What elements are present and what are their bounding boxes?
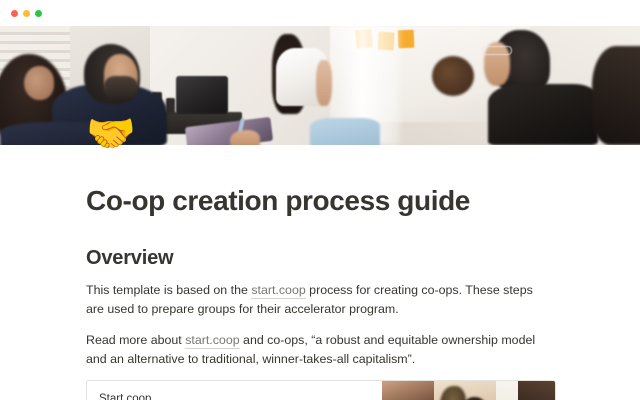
close-window-button[interactable]: [11, 10, 18, 17]
maximize-window-button[interactable]: [35, 10, 42, 17]
paragraph-one[interactable]: This template is based on the start.coop…: [86, 281, 546, 318]
heading-overview[interactable]: Overview: [86, 247, 640, 270]
page-content: Co-op creation process guide Overview Th…: [0, 185, 640, 400]
app-window: 🤝 Co-op creation process guide Overview …: [0, 0, 640, 400]
start-coop-link[interactable]: start.coop: [185, 333, 239, 349]
paragraph-two[interactable]: Read more about start.coop and co-ops, “…: [86, 331, 546, 368]
sticky-note-icon: [398, 30, 415, 49]
window-titlebar: [0, 0, 640, 26]
monitor-icon: [176, 76, 228, 114]
minimize-window-button[interactable]: [23, 10, 30, 17]
paragraph-one-text-before: This template is based on the: [86, 283, 251, 297]
bookmark-card-start-coop[interactable]: Start.coop: [86, 380, 556, 400]
bookmark-title: Start.coop: [99, 392, 370, 400]
traffic-light-group: [11, 10, 42, 17]
page-title[interactable]: Co-op creation process guide: [86, 185, 640, 217]
paragraph-two-text-before: Read more about: [86, 333, 185, 347]
bookmark-text: Start.coop: [87, 381, 382, 400]
start-coop-link[interactable]: start.coop: [251, 283, 305, 299]
handshake-icon[interactable]: 🤝: [86, 114, 136, 154]
bookmark-thumbnail: [382, 381, 555, 400]
